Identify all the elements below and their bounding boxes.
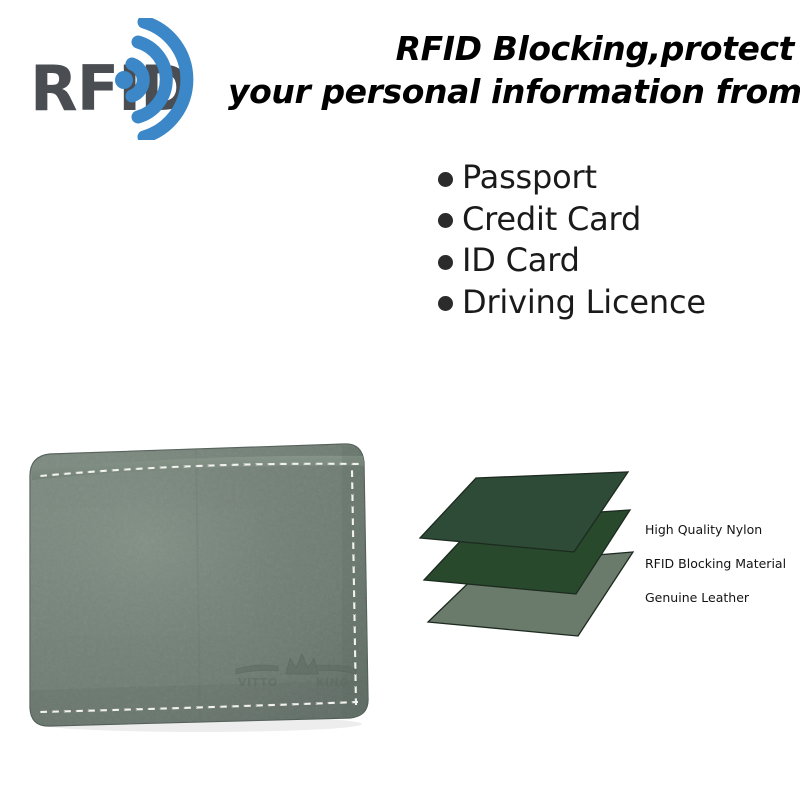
headline-line-2: your personal information from:	[228, 71, 794, 114]
headline: RFID Blocking,protect your personal info…	[228, 28, 794, 114]
bullet-dot-icon	[438, 296, 453, 311]
bullet-dot-icon	[438, 172, 453, 187]
feature-list: Passport Credit Card ID Card Driving Lic…	[438, 160, 706, 326]
list-item: ID Card	[438, 243, 706, 278]
layer-label-rfid-blocking-material: RFID Blocking Material	[645, 558, 786, 571]
wallet-product-image: VITTO KING	[24, 440, 372, 732]
feature-label: Credit Card	[462, 202, 641, 237]
emboss-text-left: VITTO	[238, 676, 278, 689]
layer-label-high-quality-nylon: High Quality Nylon	[645, 524, 762, 537]
list-item: Passport	[438, 160, 706, 195]
emboss-text-right: KING	[316, 676, 349, 689]
bullet-dot-icon	[438, 255, 453, 270]
rfid-logo: RFID	[28, 18, 228, 140]
headline-line-1: RFID Blocking,protect	[228, 28, 794, 71]
rfid-wave-center-dot	[115, 71, 133, 89]
list-item: Driving Licence	[438, 285, 706, 320]
layer-label-genuine-leather: Genuine Leather	[645, 592, 749, 605]
list-item: Credit Card	[438, 202, 706, 237]
feature-label: ID Card	[462, 243, 580, 278]
bullet-dot-icon	[438, 213, 453, 228]
feature-label: Driving Licence	[462, 285, 706, 320]
infographic-canvas: RFID RFID Blocking,protect your personal…	[0, 0, 800, 800]
material-layer-diagram	[418, 468, 648, 650]
feature-label: Passport	[462, 160, 597, 195]
